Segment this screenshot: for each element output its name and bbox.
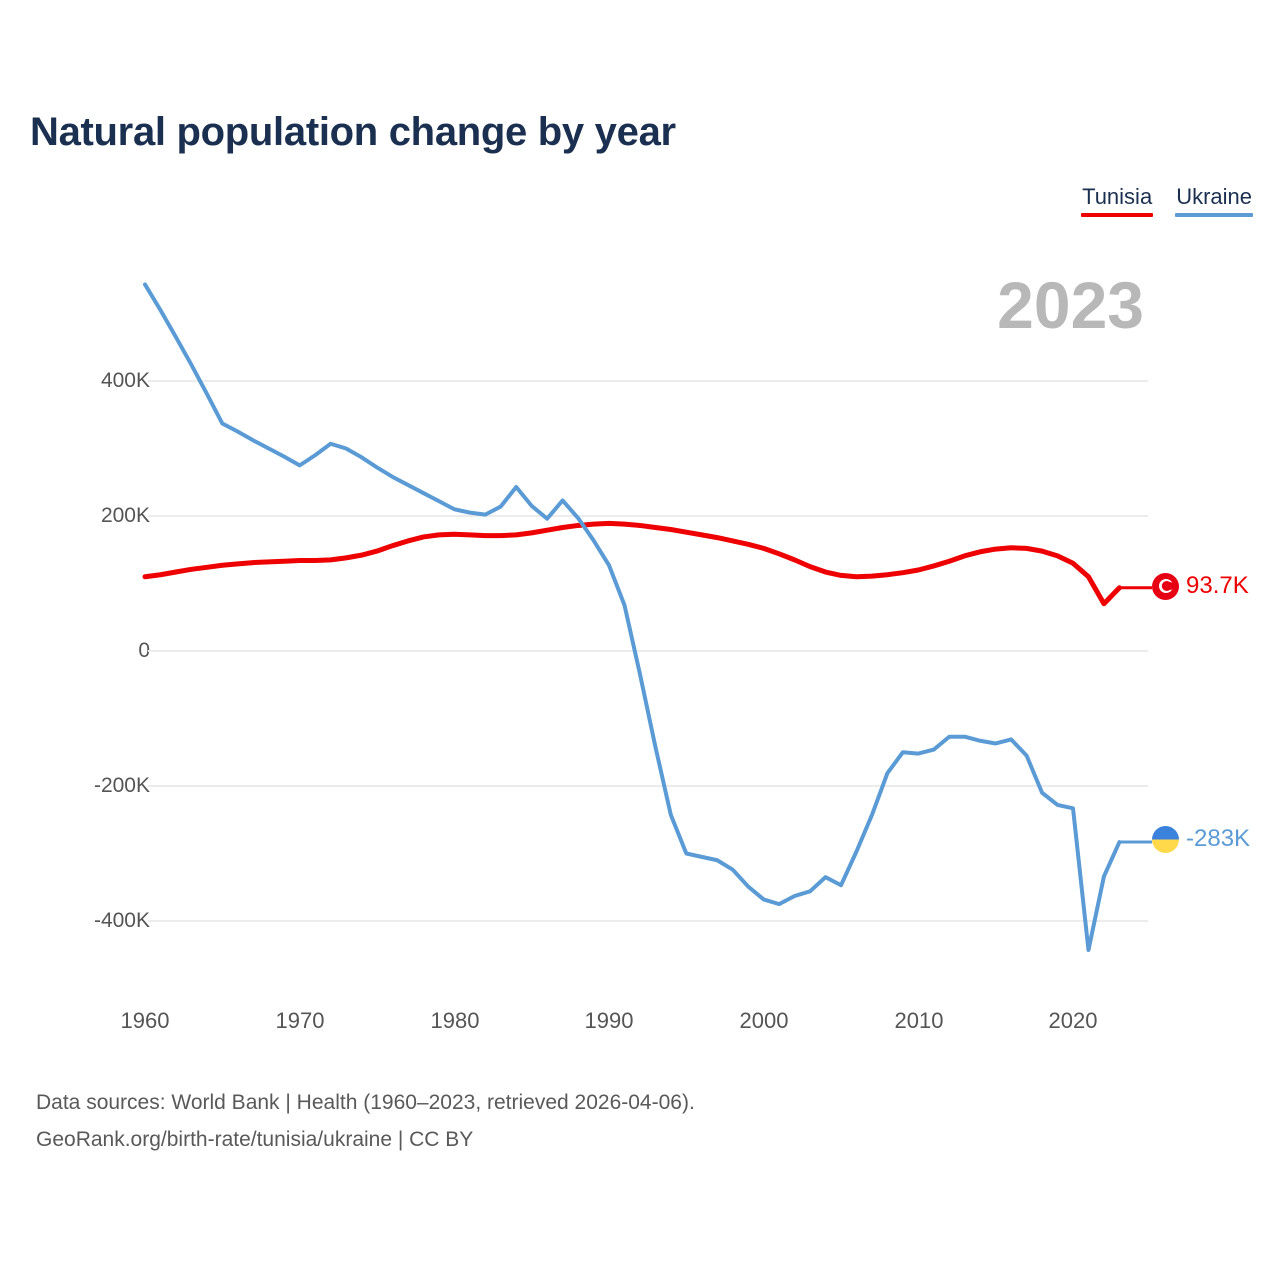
- legend-rule-ukraine: [1175, 213, 1253, 217]
- y-tick-neg400k: -400K: [30, 909, 150, 933]
- footer-line-1: Data sources: World Bank | Health (1960–…: [36, 1085, 695, 1122]
- ukraine-flag-icon: [1152, 826, 1179, 853]
- end-value-ukraine: -283K: [1186, 825, 1250, 853]
- x-tick-1990: 1990: [585, 1008, 634, 1034]
- legend-label-tunisia: Tunisia: [1081, 186, 1153, 213]
- chart-gridlines: [148, 381, 1148, 921]
- y-tick-neg200k: -200K: [30, 774, 150, 798]
- end-label-tunisia: 93.7K: [1152, 572, 1249, 600]
- end-label-ukraine: -283K: [1152, 825, 1250, 853]
- y-tick-200k: 200K: [30, 504, 150, 528]
- end-value-tunisia: 93.7K: [1186, 572, 1249, 600]
- chart-series-lines: [145, 284, 1119, 950]
- x-tick-2020: 2020: [1049, 1008, 1098, 1034]
- legend-label-ukraine: Ukraine: [1175, 186, 1253, 213]
- x-tick-1980: 1980: [431, 1008, 480, 1034]
- y-tick-400k: 400K: [30, 369, 150, 393]
- series-line-ukraine: [145, 284, 1119, 950]
- chart-legend: Tunisia Ukraine: [1081, 186, 1253, 217]
- tunisia-flag-icon: [1152, 573, 1179, 600]
- chart-end-leader-lines: [1119, 588, 1152, 842]
- y-axis-ticks: Natural population change 400K 200K 0 -2…: [0, 0, 150, 1000]
- x-tick-2000: 2000: [740, 1008, 789, 1034]
- legend-item-ukraine[interactable]: Ukraine: [1175, 186, 1253, 217]
- footer-sources: Data sources: World Bank | Health (1960–…: [36, 1085, 695, 1159]
- y-tick-0: 0: [30, 639, 150, 663]
- x-tick-1960: 1960: [121, 1008, 170, 1034]
- current-year-badge: 2023: [997, 272, 1144, 338]
- legend-item-tunisia[interactable]: Tunisia: [1081, 186, 1153, 217]
- x-tick-1970: 1970: [276, 1008, 325, 1034]
- footer-line-2: GeoRank.org/birth-rate/tunisia/ukraine |…: [36, 1122, 695, 1159]
- x-tick-2010: 2010: [895, 1008, 944, 1034]
- legend-rule-tunisia: [1081, 213, 1153, 217]
- series-line-tunisia: [145, 523, 1119, 603]
